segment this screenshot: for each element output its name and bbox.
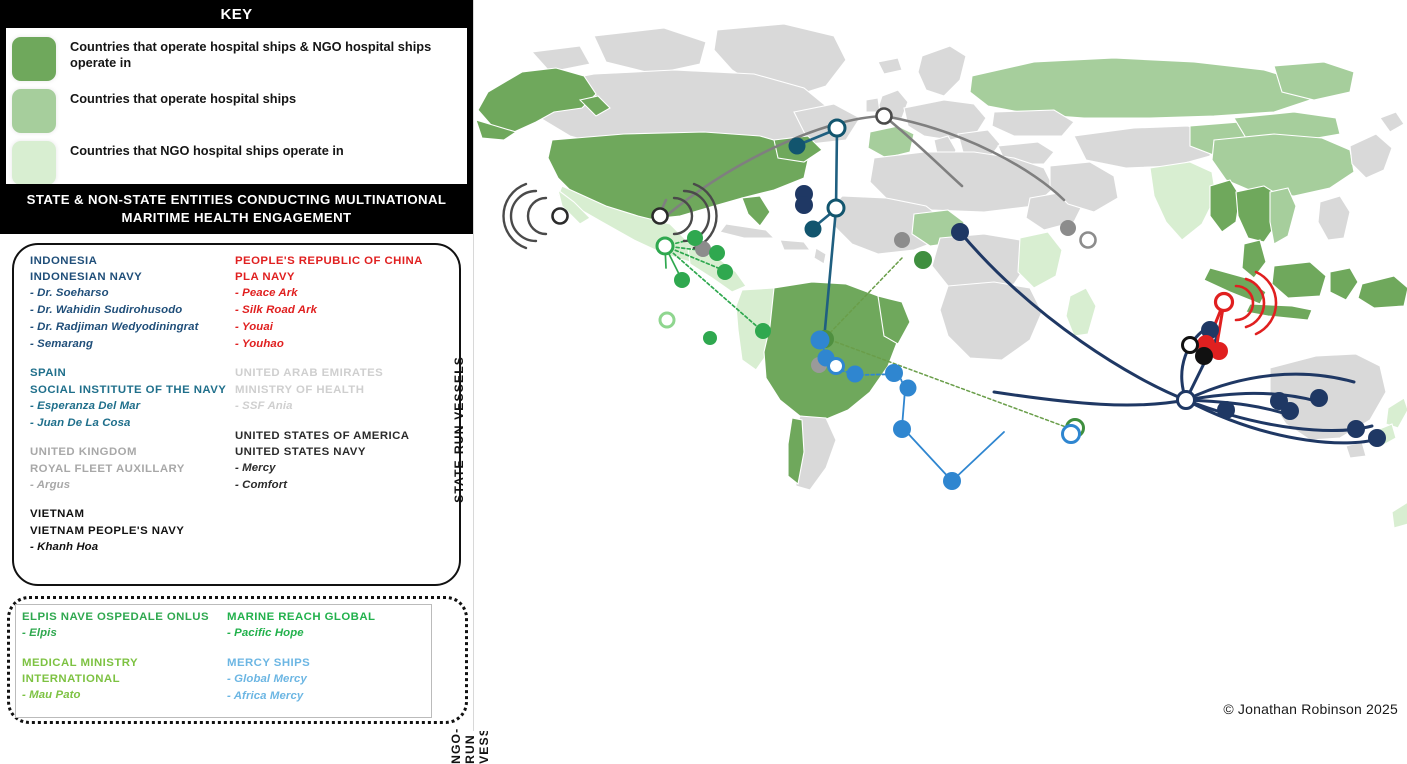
land-spain-portugal: [868, 126, 914, 158]
ngo-left-column: ELPIS NAVE OSPEDALE ONLUS - Elpis MEDICA…: [22, 609, 227, 718]
node-home-port-uae: [1081, 233, 1096, 248]
land-sulawesi: [1330, 268, 1358, 300]
node-port-call-mercyships-6: [900, 380, 917, 397]
map-landmasses: [476, 24, 1407, 528]
copyright-notice: © Jonathan Robinson 2025: [1223, 701, 1398, 717]
land-malay-peninsula: [1242, 240, 1266, 278]
land-korea-japan: [1350, 134, 1392, 178]
entity-organisation: SOCIAL INSTITUTE OF THE NAVY: [30, 382, 235, 398]
node-home-port-vietnam: [1183, 338, 1198, 353]
node-port-call-marine-reach-1: [687, 230, 703, 246]
node-port-call-marine-reach-5: [755, 323, 771, 339]
key-row-both: Countries that operate hospital ships & …: [6, 37, 467, 81]
land-east-africa: [1018, 232, 1062, 288]
ngo-run-columns: ELPIS NAVE OSPEDALE ONLUS - Elpis MEDICA…: [22, 609, 422, 718]
node-port-call-marine-reach-4: [674, 272, 690, 288]
state-run-vessels-vertical-label: STATE-RUN VESSELS: [452, 356, 466, 503]
entity-organisation: ELPIS NAVE OSPEDALE ONLUS: [22, 609, 227, 625]
route-mercyships-7: [952, 432, 1004, 481]
entity-ship: - Dr. Soeharso: [30, 285, 235, 302]
land-madagascar: [1066, 288, 1096, 336]
land-russia: [970, 58, 1310, 118]
entity-ship: - Elpis: [22, 625, 227, 642]
land-us-florida: [742, 196, 770, 226]
land-java: [1246, 304, 1312, 320]
node-port-call-mercyships-7: [893, 420, 911, 438]
node-port-call-indonesia-atlantic-2: [795, 196, 813, 214]
state-run-columns: INDONESIA INDONESIAN NAVY - Dr. Soeharso…: [30, 253, 430, 569]
node-port-call-mercyships-4: [847, 366, 864, 383]
node-port-call-elpis-mediterranean: [914, 251, 932, 269]
entity-ship: - Pacific Hope: [227, 625, 417, 642]
land-india: [1150, 162, 1216, 240]
key-row-ngo-only: Countries that NGO hospital ships operat…: [6, 141, 467, 185]
entity-ship: - Mercy: [235, 460, 425, 477]
entity-group-uae: UNITED ARAB EMIRATES MINISTRY OF HEALTH …: [235, 365, 425, 414]
node-home-port-mercyships-madagascar: [1063, 426, 1080, 443]
entity-group-usa: UNITED STATES OF AMERICA UNITED STATES N…: [235, 428, 425, 494]
land-pacific-islands: [1392, 502, 1407, 528]
land-arctic-islands: [594, 28, 706, 74]
key-label-ngo-only: Countries that NGO hospital ships operat…: [70, 141, 344, 159]
route-spain-2: [836, 129, 837, 209]
broadcast-san-diego: [503, 184, 546, 248]
entity-group-mercy-ships: MERCY SHIPS - Global Mercy - Africa Merc…: [227, 655, 417, 705]
ngo-right-column: MARINE REACH GLOBAL - Pacific Hope MERCY…: [227, 609, 417, 718]
entity-group-elpis: ELPIS NAVE OSPEDALE ONLUS - Elpis: [22, 609, 227, 642]
land-myanmar: [1210, 180, 1240, 232]
entity-group-united-kingdom: UNITED KINGDOM ROYAL FLEET AUXILLARY - A…: [30, 444, 235, 493]
entity-ship: - Semarang: [30, 336, 235, 353]
land-cuba: [720, 224, 774, 238]
node-port-call-indonesia-4: [1281, 402, 1299, 420]
entity-organisation: MEDICAL MINISTRY INTERNATIONAL: [22, 655, 227, 687]
key-box: Countries that operate hospital ships & …: [0, 28, 473, 184]
entity-ship: - Argus: [30, 477, 235, 494]
node-port-call-spain-atlantic: [789, 138, 806, 155]
entity-ship: - Comfort: [235, 477, 425, 494]
entity-country: PEOPLE'S REPUBLIC OF CHINA: [235, 253, 425, 269]
land-scandinavia: [918, 46, 966, 96]
entity-ship: - Silk Road Ark: [235, 302, 425, 319]
route-mercyships-6: [902, 427, 952, 481]
entities-header-line2: MARITIME HEALTH ENGAGEMENT: [122, 209, 352, 227]
entity-organisation: ROYAL FLEET AUXILLARY: [30, 461, 235, 477]
node-port-call-mercyships-1: [811, 331, 830, 350]
entity-ship: - Dr. Wahidin Sudirohusodo: [30, 302, 235, 319]
ngo-run-vessels-box: ELPIS NAVE OSPEDALE ONLUS - Elpis MEDICA…: [7, 596, 468, 724]
land-tasmania: [1346, 442, 1366, 458]
land-lesser-antilles: [814, 248, 826, 264]
node-port-call-mercyships-8: [943, 472, 961, 490]
entity-group-vietnam: VIETNAM VIETNAM PEOPLE'S NAVY - Khanh Ho…: [30, 506, 235, 555]
entity-organisation: MINISTRY OF HEALTH: [235, 382, 425, 398]
node-port-call-indonesia-6: [1368, 429, 1386, 447]
node-home-port-spain-canaries: [828, 200, 844, 216]
entity-country: INDONESIA: [30, 253, 235, 269]
node-port-call-usn-gulf: [1060, 220, 1076, 236]
world-map: .ln{fill:#d9d9d9;stroke:#ffffff;stroke-w…: [474, 0, 1407, 731]
entity-ship: - Dr. Radjiman Wedyodiningrat: [30, 319, 235, 336]
key-swatch-both: [12, 37, 56, 81]
entity-ship: - Khanh Hoa: [30, 539, 235, 556]
node-port-call-marine-reach-2: [709, 245, 725, 261]
entity-organisation: INDONESIAN NAVY: [30, 269, 235, 285]
entity-organisation: PLA NAVY: [235, 269, 425, 285]
land-borneo: [1272, 262, 1326, 298]
node-port-call-marine-reach-brazil: [703, 331, 717, 345]
node-port-call-usn-mediterranean: [894, 232, 910, 248]
key-label-state-only: Countries that operate hospital ships: [70, 89, 296, 107]
node-home-port-san-diego: [553, 209, 568, 224]
entity-ship: - Peace Ark: [235, 285, 425, 302]
key-header: KEY: [0, 0, 473, 28]
entity-ship: - Youai: [235, 319, 425, 336]
land-arctic-islands-2: [532, 46, 590, 72]
node-port-call-spain-west: [805, 221, 822, 238]
key-label-both: Countries that operate hospital ships & …: [70, 37, 460, 71]
node-port-call-vietnam: [1195, 347, 1213, 365]
entity-country: SPAIN: [30, 365, 235, 381]
entity-organisation: MARINE REACH GLOBAL: [227, 609, 417, 625]
node-home-port-marine-reach-peru: [660, 313, 674, 327]
land-papua: [1358, 276, 1407, 308]
node-home-port-marine-reach-panama: [657, 238, 673, 254]
entity-ship: - Juan De La Cosa: [30, 415, 235, 432]
entity-group-indonesia: INDONESIA INDONESIAN NAVY - Dr. Soeharso…: [30, 253, 235, 352]
node-home-port-indonesia-jakarta: [1178, 392, 1195, 409]
node-port-call-indonesia-3: [1310, 389, 1328, 407]
entity-organisation: MERCY SHIPS: [227, 655, 417, 671]
state-run-vessels-box: INDONESIA INDONESIAN NAVY - Dr. Soeharso…: [12, 243, 461, 586]
world-map-panel: .ln{fill:#d9d9d9;stroke:#ffffff;stroke-w…: [473, 0, 1407, 731]
node-port-call-marine-reach-3: [717, 264, 733, 280]
entity-organisation: VIETNAM PEOPLE'S NAVY: [30, 523, 235, 539]
node-home-port-china: [1216, 294, 1233, 311]
node-home-port-norfolk: [653, 209, 668, 224]
node-port-call-mercyships-5: [885, 364, 903, 382]
entity-ship: - Mau Pato: [22, 687, 227, 704]
entity-ship: - Esperanza Del Mar: [30, 398, 235, 415]
entity-group-spain: SPAIN SOCIAL INSTITUTE OF THE NAVY - Esp…: [30, 365, 235, 431]
entity-ship: - Youhao: [235, 336, 425, 353]
entity-organisation: UNITED STATES NAVY: [235, 444, 425, 460]
land-new-zealand: [1386, 398, 1407, 428]
node-port-call-indonesia-5: [1347, 420, 1365, 438]
land-vietnam: [1270, 188, 1296, 244]
node-port-call-indonesia-mediterranean: [951, 223, 969, 241]
entity-ship: - Africa Mercy: [227, 688, 417, 705]
entity-country: UNITED ARAB EMIRATES: [235, 365, 425, 381]
entity-country: VIETNAM: [30, 506, 235, 522]
land-southern-africa: [940, 282, 1042, 360]
entity-group-china: PEOPLE'S REPUBLIC OF CHINA PLA NAVY - Pe…: [235, 253, 425, 352]
state-right-column: PEOPLE'S REPUBLIC OF CHINA PLA NAVY - Pe…: [235, 253, 425, 569]
route-indonesia-hub-west: [994, 392, 1186, 405]
entity-ship: - Global Mercy: [227, 671, 417, 688]
node-home-port-uk-atlantic: [877, 109, 892, 124]
node-home-port-mercyships-3: [829, 359, 844, 374]
key-swatch-state-only: [12, 89, 56, 133]
state-left-column: INDONESIA INDONESIAN NAVY - Dr. Soeharso…: [30, 253, 235, 569]
land-south-america: [764, 282, 898, 420]
key-swatch-ngo-only: [12, 141, 56, 185]
node-home-port-spain: [829, 120, 845, 136]
entity-country: UNITED STATES OF AMERICA: [235, 428, 425, 444]
entity-country: UNITED KINGDOM: [30, 444, 235, 460]
land-philippines: [1318, 196, 1350, 240]
entity-group-marine-reach-global: MARINE REACH GLOBAL - Pacific Hope: [227, 609, 417, 642]
legend-and-entities-panel: KEY Countries that operate hospital ship…: [0, 0, 473, 731]
entities-header-line1: STATE & NON-STATE ENTITIES CONDUCTING MU…: [27, 191, 447, 209]
entity-group-medical-ministry-international: MEDICAL MINISTRY INTERNATIONAL - Mau Pat…: [22, 655, 227, 704]
entities-header: STATE & NON-STATE ENTITIES CONDUCTING MU…: [0, 184, 473, 234]
land-japan-north: [1380, 112, 1404, 132]
node-port-call-indonesia-1: [1217, 401, 1235, 419]
land-hispaniola: [780, 240, 810, 250]
entity-ship: - SSF Ania: [235, 398, 425, 415]
land-iceland: [878, 58, 902, 74]
key-row-state-only: Countries that operate hospital ships: [6, 89, 467, 133]
